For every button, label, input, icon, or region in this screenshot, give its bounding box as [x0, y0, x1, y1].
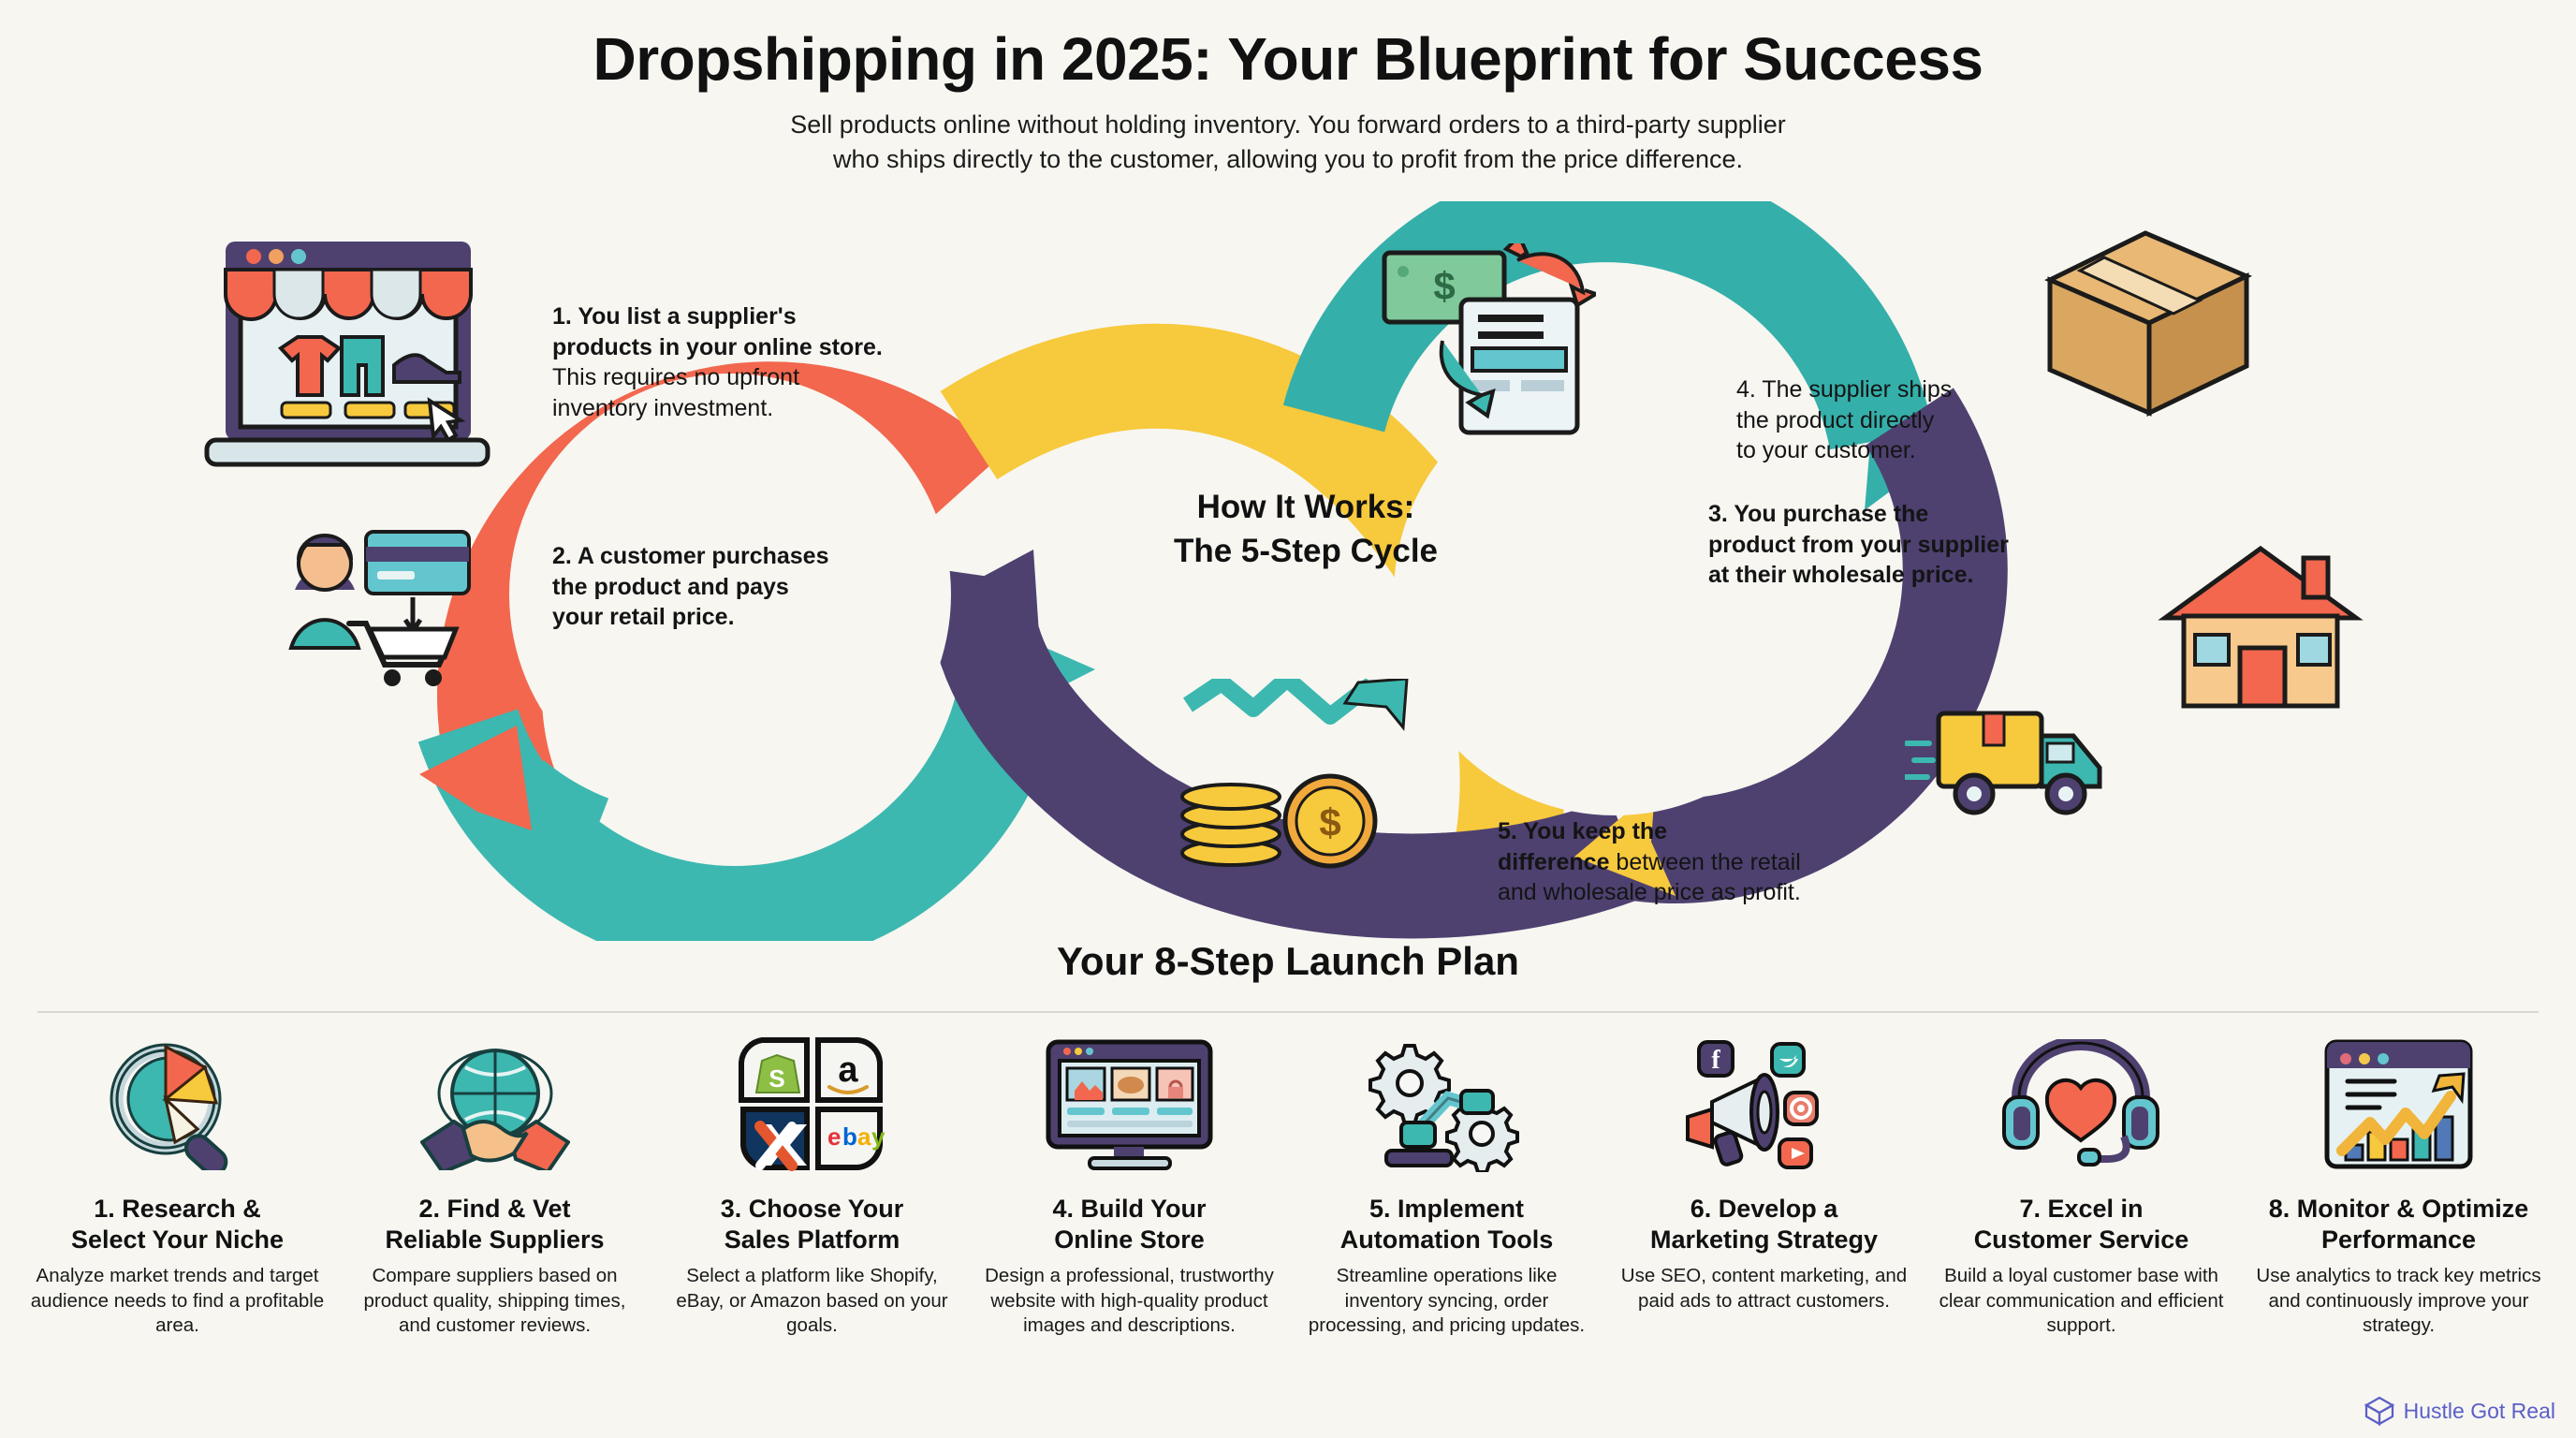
cycle-step-5-text: 5. You keep the difference between the r…	[1498, 816, 1938, 908]
plan-card-1[interactable]: 1. Research & Select Your Niche Analyze …	[19, 1022, 336, 1339]
svg-text:y: y	[871, 1123, 885, 1151]
step-4-lead: 4. The supplier ships	[1736, 374, 2111, 405]
plan-card-3-heading-l2: Sales Platform	[721, 1225, 904, 1255]
cycle-step-4-text: 4. The supplier ships the product direct…	[1736, 374, 2111, 466]
online-store-monitor-icon	[1043, 1022, 1216, 1186]
step-5-body-2: and wholesale price as profit.	[1498, 877, 1938, 908]
step-2-lead-3: your retail price.	[552, 602, 964, 633]
plan-card-7[interactable]: 7. Excel in Customer Service Build a loy…	[1923, 1022, 2240, 1339]
profit-growth-icon: $	[1175, 679, 1409, 875]
robot-arm-gears-icon	[1368, 1022, 1527, 1186]
plan-card-3-heading: 3. Choose Your Sales Platform	[721, 1194, 904, 1255]
svg-text:S: S	[768, 1064, 784, 1093]
plan-card-4-body: Design a professional, trustworthy websi…	[980, 1264, 1279, 1339]
plan-card-4-heading-l1: 4. Build Your	[1052, 1194, 1206, 1225]
plan-card-8-body: Use analytics to track key metrics and c…	[2249, 1264, 2548, 1339]
step-1-lead-2: products in your online store.	[552, 332, 964, 363]
plan-card-5-heading-l2: Automation Tools	[1340, 1225, 1553, 1255]
svg-text:e: e	[827, 1123, 841, 1151]
customer-credit-card-icon	[276, 506, 491, 693]
section-divider	[37, 1011, 2539, 1013]
sales-platform-logos-icon: S a e b a y	[738, 1022, 887, 1186]
cycle-center-line-1: How It Works:	[1109, 485, 1502, 529]
plan-card-2-heading-l1: 2. Find & Vet	[385, 1194, 604, 1225]
delivery-truck-icon	[1905, 693, 2111, 833]
subtitle-line-2: who ships directly to the customer, allo…	[0, 142, 2576, 177]
svg-text:a: a	[857, 1123, 871, 1151]
plan-card-6-body: Use SEO, content marketing, and paid ads…	[1615, 1264, 1913, 1313]
cycle-step-2-text: 2. A customer purchases the product and …	[552, 541, 964, 633]
plan-card-7-heading-l2: Customer Service	[1974, 1225, 2189, 1255]
cycle-step-3-text: 3. You purchase the product from your su…	[1708, 499, 2148, 591]
subtitle-line-1: Sell products online without holding inv…	[0, 108, 2576, 142]
plan-card-3-heading-l1: 3. Choose Your	[721, 1194, 904, 1225]
plan-card-2-heading: 2. Find & Vet Reliable Suppliers	[385, 1194, 604, 1255]
plan-card-6-heading-l1: 6. Develop a	[1650, 1194, 1878, 1225]
plan-card-8-heading: 8. Monitor & Optimize Performance	[2269, 1194, 2529, 1255]
infographic-canvas: Dropshipping in 2025: Your Blueprint for…	[0, 0, 2576, 1438]
cycle-center-label: How It Works: The 5-Step Cycle	[1109, 485, 1502, 574]
cycle-step-1-text: 1. You list a supplier's products in you…	[552, 301, 964, 423]
svg-text:b: b	[842, 1123, 857, 1151]
step-3-lead-3: at their wholesale price.	[1708, 560, 2148, 591]
plan-card-3-body: Select a platform like Shopify, eBay, or…	[663, 1264, 961, 1339]
page-subtitle: Sell products online without holding inv…	[0, 108, 2576, 178]
page-title: Dropshipping in 2025: Your Blueprint for…	[0, 28, 2576, 91]
step-5-lead: 5. You keep the	[1498, 816, 1938, 847]
plan-card-5[interactable]: 5. Implement Automation Tools Streamline…	[1288, 1022, 1605, 1339]
plan-card-1-heading: 1. Research & Select Your Niche	[71, 1194, 284, 1255]
step-3-lead-2: product from your supplier	[1708, 530, 2148, 561]
step-5-body-inline: between the retail	[1609, 849, 1800, 875]
plan-card-7-heading: 7. Excel in Customer Service	[1974, 1194, 2189, 1255]
plan-card-5-heading-l1: 5. Implement	[1340, 1194, 1553, 1225]
analytics-chart-icon	[2321, 1022, 2476, 1186]
step-3-lead-1: 3. You purchase the	[1708, 499, 2148, 530]
step-2-lead-1: 2. A customer purchases	[552, 541, 964, 572]
plan-card-5-body: Streamline operations like inventory syn…	[1297, 1264, 1596, 1339]
step-1-body-1: This requires no upfront	[552, 362, 964, 393]
plan-card-8[interactable]: 8. Monitor & Optimize Performance Use an…	[2240, 1022, 2557, 1339]
plan-section-title: Your 8-Step Launch Plan	[0, 939, 2576, 984]
svg-text:$: $	[1319, 800, 1340, 844]
plan-card-3[interactable]: S a e b a y 3. Choose Your Sales P	[653, 1022, 971, 1339]
plan-cards-row: 1. Research & Select Your Niche Analyze …	[19, 1022, 2557, 1339]
step-1-body-2: inventory investment.	[552, 393, 964, 424]
headset-heart-icon	[2002, 1022, 2161, 1186]
plan-card-4-heading-l2: Online Store	[1052, 1225, 1206, 1255]
money-invoice-icon: $	[1381, 243, 1596, 440]
cycle-center-line-2: The 5-Step Cycle	[1109, 529, 1502, 573]
plan-card-1-heading-l1: 1. Research &	[71, 1194, 284, 1225]
plan-card-2-body: Compare suppliers based on product quali…	[345, 1264, 644, 1339]
plan-card-8-heading-l1: 8. Monitor & Optimize	[2269, 1194, 2529, 1225]
step-4-body-2: to your customer.	[1736, 435, 2111, 466]
globe-handshake-icon	[420, 1022, 570, 1186]
watermark: Hustle Got Real	[2364, 1395, 2555, 1427]
plan-card-6-heading-l2: Marketing Strategy	[1650, 1225, 1878, 1255]
plan-card-5-heading: 5. Implement Automation Tools	[1340, 1194, 1553, 1255]
step-4-body-1: the product directly	[1736, 405, 2111, 436]
plan-card-6-heading: 6. Develop a Marketing Strategy	[1650, 1194, 1878, 1255]
plan-card-4-heading: 4. Build Your Online Store	[1052, 1194, 1206, 1255]
pie-chart-magnifier-icon	[108, 1022, 248, 1186]
plan-card-2[interactable]: 2. Find & Vet Reliable Suppliers Compare…	[336, 1022, 653, 1339]
plan-card-2-heading-l2: Reliable Suppliers	[385, 1225, 604, 1255]
plan-card-8-heading-l2: Performance	[2269, 1225, 2529, 1255]
online-storefront-icon	[192, 234, 501, 477]
svg-text:$: $	[1433, 264, 1455, 308]
plan-card-4[interactable]: 4. Build Your Online Store Design a prof…	[971, 1022, 1288, 1339]
svg-text:f: f	[1711, 1046, 1720, 1075]
plan-card-1-body: Analyze market trends and target audienc…	[28, 1264, 327, 1339]
plan-card-1-heading-l2: Select Your Niche	[71, 1225, 284, 1255]
megaphone-social-icon: f	[1682, 1022, 1846, 1186]
svg-text:a: a	[838, 1050, 858, 1090]
cube-logo-icon	[2364, 1395, 2395, 1427]
step-5-bold-word: difference	[1498, 849, 1609, 875]
customer-house-icon	[2158, 543, 2364, 712]
step-1-lead-1: 1. You list a supplier's	[552, 301, 964, 332]
plan-card-6[interactable]: f 6. Develop a Marketing Stra	[1605, 1022, 1923, 1339]
watermark-label: Hustle Got Real	[2404, 1399, 2555, 1424]
header: Dropshipping in 2025: Your Blueprint for…	[0, 28, 2576, 178]
plan-card-7-body: Build a loyal customer base with clear c…	[1932, 1264, 2231, 1339]
step-2-lead-2: the product and pays	[552, 572, 964, 603]
plan-card-7-heading-l1: 7. Excel in	[1974, 1194, 2189, 1225]
